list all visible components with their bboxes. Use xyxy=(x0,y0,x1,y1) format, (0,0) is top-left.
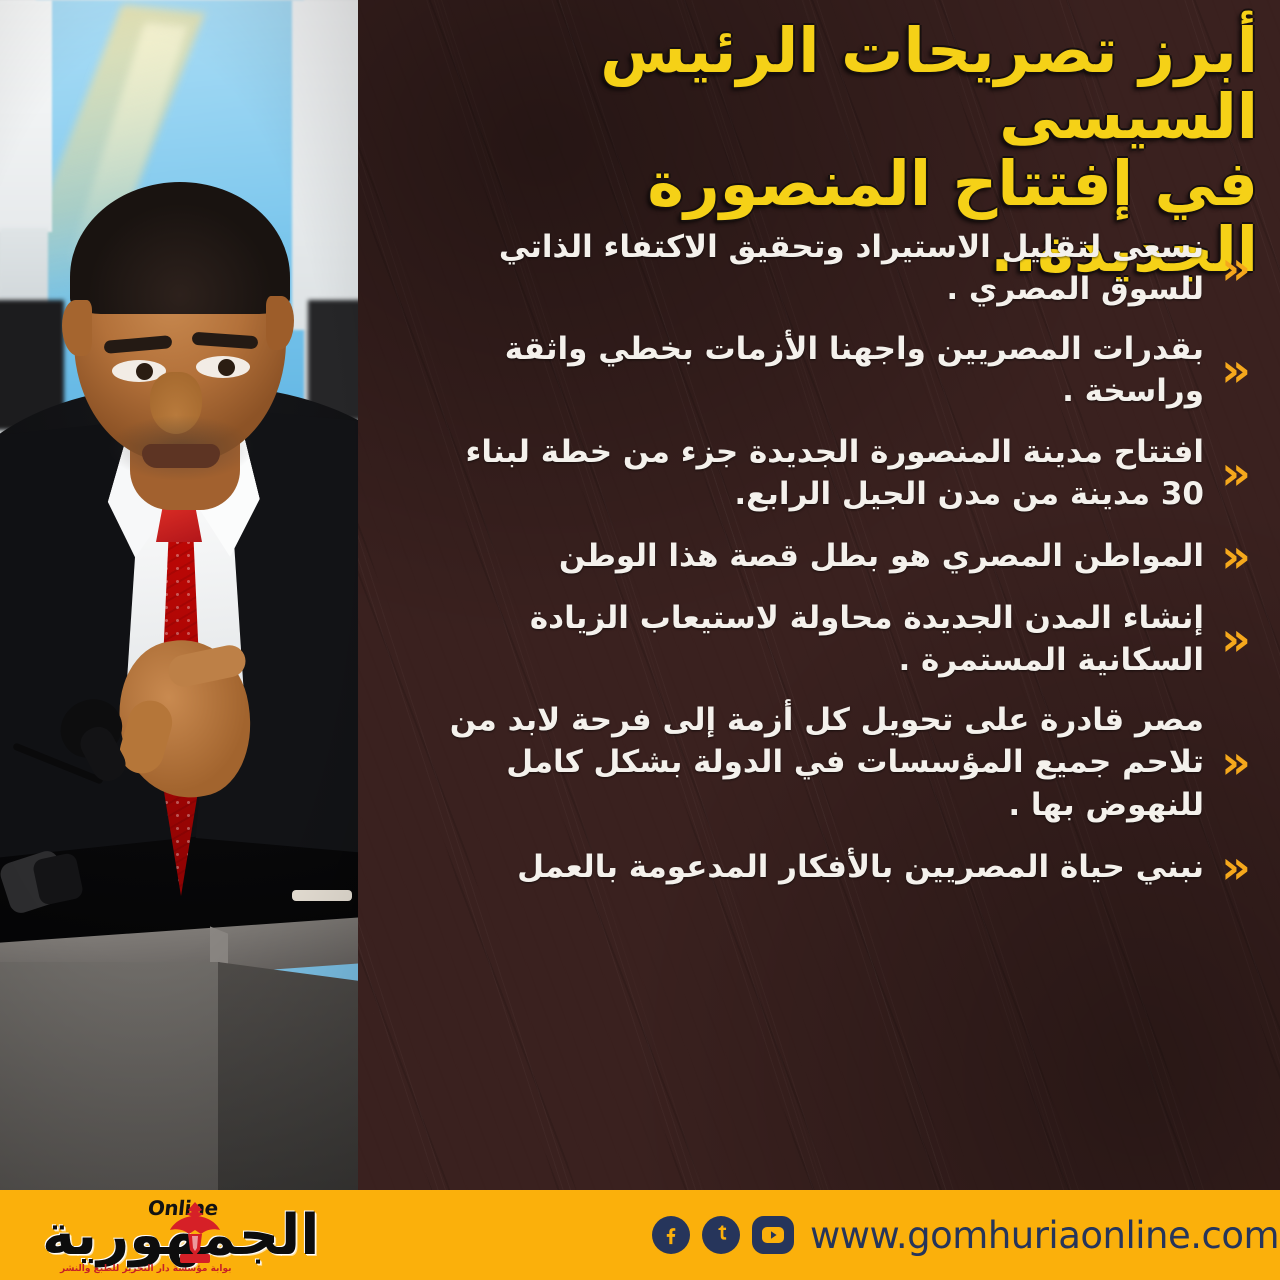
youtube-icon[interactable] xyxy=(752,1216,794,1254)
quote-text: إنشاء المدن الجديدة محاولة لاستيعاب الزي… xyxy=(392,597,1204,681)
content-panel: أبرز تصريحات الرئيس السيسى في إفتتاح الم… xyxy=(358,0,1280,1190)
quote-text: نسعى لتقليل الاستيراد وتحقيق الاكتفاء ال… xyxy=(392,226,1204,310)
facebook-icon[interactable] xyxy=(652,1216,690,1254)
double-chevron-icon: « xyxy=(1204,533,1262,579)
quote-text: نبني حياة المصريين بالأفكار المدعومة بال… xyxy=(392,846,1204,888)
double-chevron-icon: « xyxy=(1204,450,1262,496)
quote-text: بقدرات المصريين واجهنا الأزمات بخطي واثق… xyxy=(392,328,1204,412)
president-photo xyxy=(0,0,358,1190)
double-chevron-icon: « xyxy=(1204,245,1262,291)
list-item: « إنشاء المدن الجديدة محاولة لاستيعاب ال… xyxy=(392,597,1262,681)
list-item: « افتتاح مدينة المنصورة الجديدة جزء من خ… xyxy=(392,431,1262,515)
infographic-canvas: أبرز تصريحات الرئيس السيسى في إفتتاح الم… xyxy=(0,0,1280,1280)
list-item: « المواطن المصري هو بطل قصة هذا الوطن xyxy=(392,533,1262,579)
social-links xyxy=(652,1216,794,1254)
twitter-icon[interactable] xyxy=(702,1216,740,1254)
page-title-line-1: أبرز تصريحات الرئيس السيسى xyxy=(382,18,1258,151)
list-item: « مصر قادرة على تحويل كل أزمة إلى فرحة ل… xyxy=(392,699,1262,825)
quote-text: افتتاح مدينة المنصورة الجديدة جزء من خطة… xyxy=(392,431,1204,515)
double-chevron-icon: « xyxy=(1204,616,1262,662)
quote-text: مصر قادرة على تحويل كل أزمة إلى فرحة لاب… xyxy=(392,699,1204,825)
quote-text: المواطن المصري هو بطل قصة هذا الوطن xyxy=(392,535,1204,577)
brand-logo[interactable]: Online الجمهورية بوابة مؤسسة دار التحرير… xyxy=(0,1190,360,1280)
double-chevron-icon: « xyxy=(1204,347,1262,393)
website-url[interactable]: www.gomhuriaonline.com xyxy=(810,1214,1279,1257)
double-chevron-icon: « xyxy=(1204,739,1262,785)
eagle-emblem-icon xyxy=(168,1200,222,1266)
photo-vignette xyxy=(0,0,358,1190)
quotes-list: « نسعى لتقليل الاستيراد وتحقيق الاكتفاء … xyxy=(358,226,1280,1190)
list-item: « نبني حياة المصريين بالأفكار المدعومة ب… xyxy=(392,844,1262,890)
double-chevron-icon: « xyxy=(1204,844,1262,890)
list-item: « نسعى لتقليل الاستيراد وتحقيق الاكتفاء … xyxy=(392,226,1262,310)
footer-bar: Online الجمهورية بوابة مؤسسة دار التحرير… xyxy=(0,1190,1280,1280)
list-item: « بقدرات المصريين واجهنا الأزمات بخطي وا… xyxy=(392,328,1262,412)
